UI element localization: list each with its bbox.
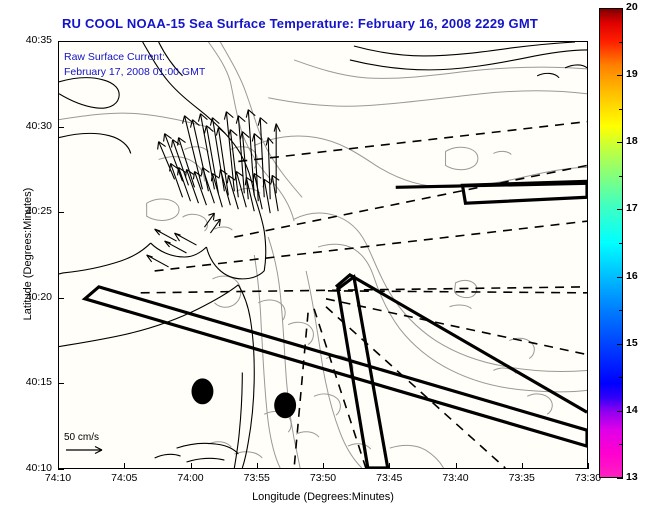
coastline: [59, 42, 587, 468]
y-tick-mark: [58, 383, 64, 384]
x-tick-label: 73:45: [367, 472, 411, 484]
colorbar-tick-label: 14: [626, 404, 638, 416]
x-tick-mark: [191, 463, 192, 469]
x-tick-label: 73:50: [301, 472, 345, 484]
colorbar-tick-mark: [617, 478, 623, 479]
x-tick-label: 74:05: [102, 472, 146, 484]
colorbar-tick-mark: [617, 344, 623, 345]
colorbar-tick-mark: [617, 209, 623, 210]
y-tick-mark: [58, 212, 64, 213]
x-tick-mark: [257, 463, 258, 469]
scale-bar-label: 50 cm/s: [64, 432, 110, 443]
colorbar-minor-tick-mark: [619, 243, 623, 244]
x-tick-mark: [124, 463, 125, 469]
colorbar-tick-label: 20: [626, 1, 638, 13]
y-tick-mark: [58, 127, 64, 128]
colorbar-tick-mark: [617, 8, 623, 9]
y-tick-label: 40:15: [0, 376, 52, 388]
map-graphics: [59, 42, 587, 468]
x-tick-mark: [456, 463, 457, 469]
y-tick-label: 40:30: [0, 120, 52, 132]
y-tick-mark: [58, 469, 64, 470]
colorbar-tick-label: 19: [626, 68, 638, 80]
colorbar-minor-tick-mark: [619, 444, 623, 445]
colorbar-tick-label: 17: [626, 202, 638, 214]
x-tick-mark: [323, 463, 324, 469]
colorbar-minor-tick-mark: [619, 109, 623, 110]
y-tick-mark: [58, 298, 64, 299]
colorbar-minor-tick-mark: [619, 176, 623, 177]
y-tick-mark: [58, 41, 64, 42]
bathymetry-contours: [59, 42, 587, 468]
colorbar-minor-tick-mark: [619, 310, 623, 311]
y-axis-label: Latitude (Degrees:Minutes): [22, 154, 34, 354]
colorbar-minor-tick-mark: [619, 377, 623, 378]
y-tick-label: 40:10: [0, 462, 52, 474]
x-tick-mark: [522, 463, 523, 469]
colorbar-tick-label: 16: [626, 270, 638, 282]
x-tick-mark: [389, 463, 390, 469]
annotation-line-1: Raw Surface Current:: [64, 50, 205, 65]
station-dot-1: [191, 378, 213, 404]
station-dot-2: [274, 392, 296, 418]
colorbar-tick-label: 18: [626, 135, 638, 147]
annotation-line-2: February 17, 2008 01:00 GMT: [64, 65, 205, 80]
colorbar-minor-tick-mark: [619, 42, 623, 43]
x-tick-label: 73:55: [235, 472, 279, 484]
x-axis-label: Longitude (Degrees:Minutes): [58, 491, 588, 503]
station-markers[interactable]: [191, 378, 296, 418]
colorbar-tick-mark: [617, 142, 623, 143]
dashed-ray-lines: [141, 122, 587, 468]
x-tick-label: 74:00: [169, 472, 213, 484]
colorbar-tick-label: 15: [626, 337, 638, 349]
colorbar-tick-mark: [617, 75, 623, 76]
x-tick-label: 73:35: [500, 472, 544, 484]
colorbar-tick-label: 13: [626, 471, 638, 483]
right-arrow-icon: [64, 444, 110, 456]
x-tick-mark: [588, 463, 589, 469]
colorbar-tick-mark: [617, 411, 623, 412]
y-tick-label: 40:35: [0, 34, 52, 46]
map-plot-area[interactable]: [58, 41, 588, 469]
page-title: RU COOL NOAA-15 Sea Surface Temperature:…: [0, 16, 600, 31]
annotation-text: Raw Surface Current: February 17, 2008 0…: [64, 50, 205, 80]
velocity-scale-bar: 50 cm/s: [64, 432, 110, 456]
colorbar-tick-mark: [617, 277, 623, 278]
x-tick-label: 73:40: [434, 472, 478, 484]
